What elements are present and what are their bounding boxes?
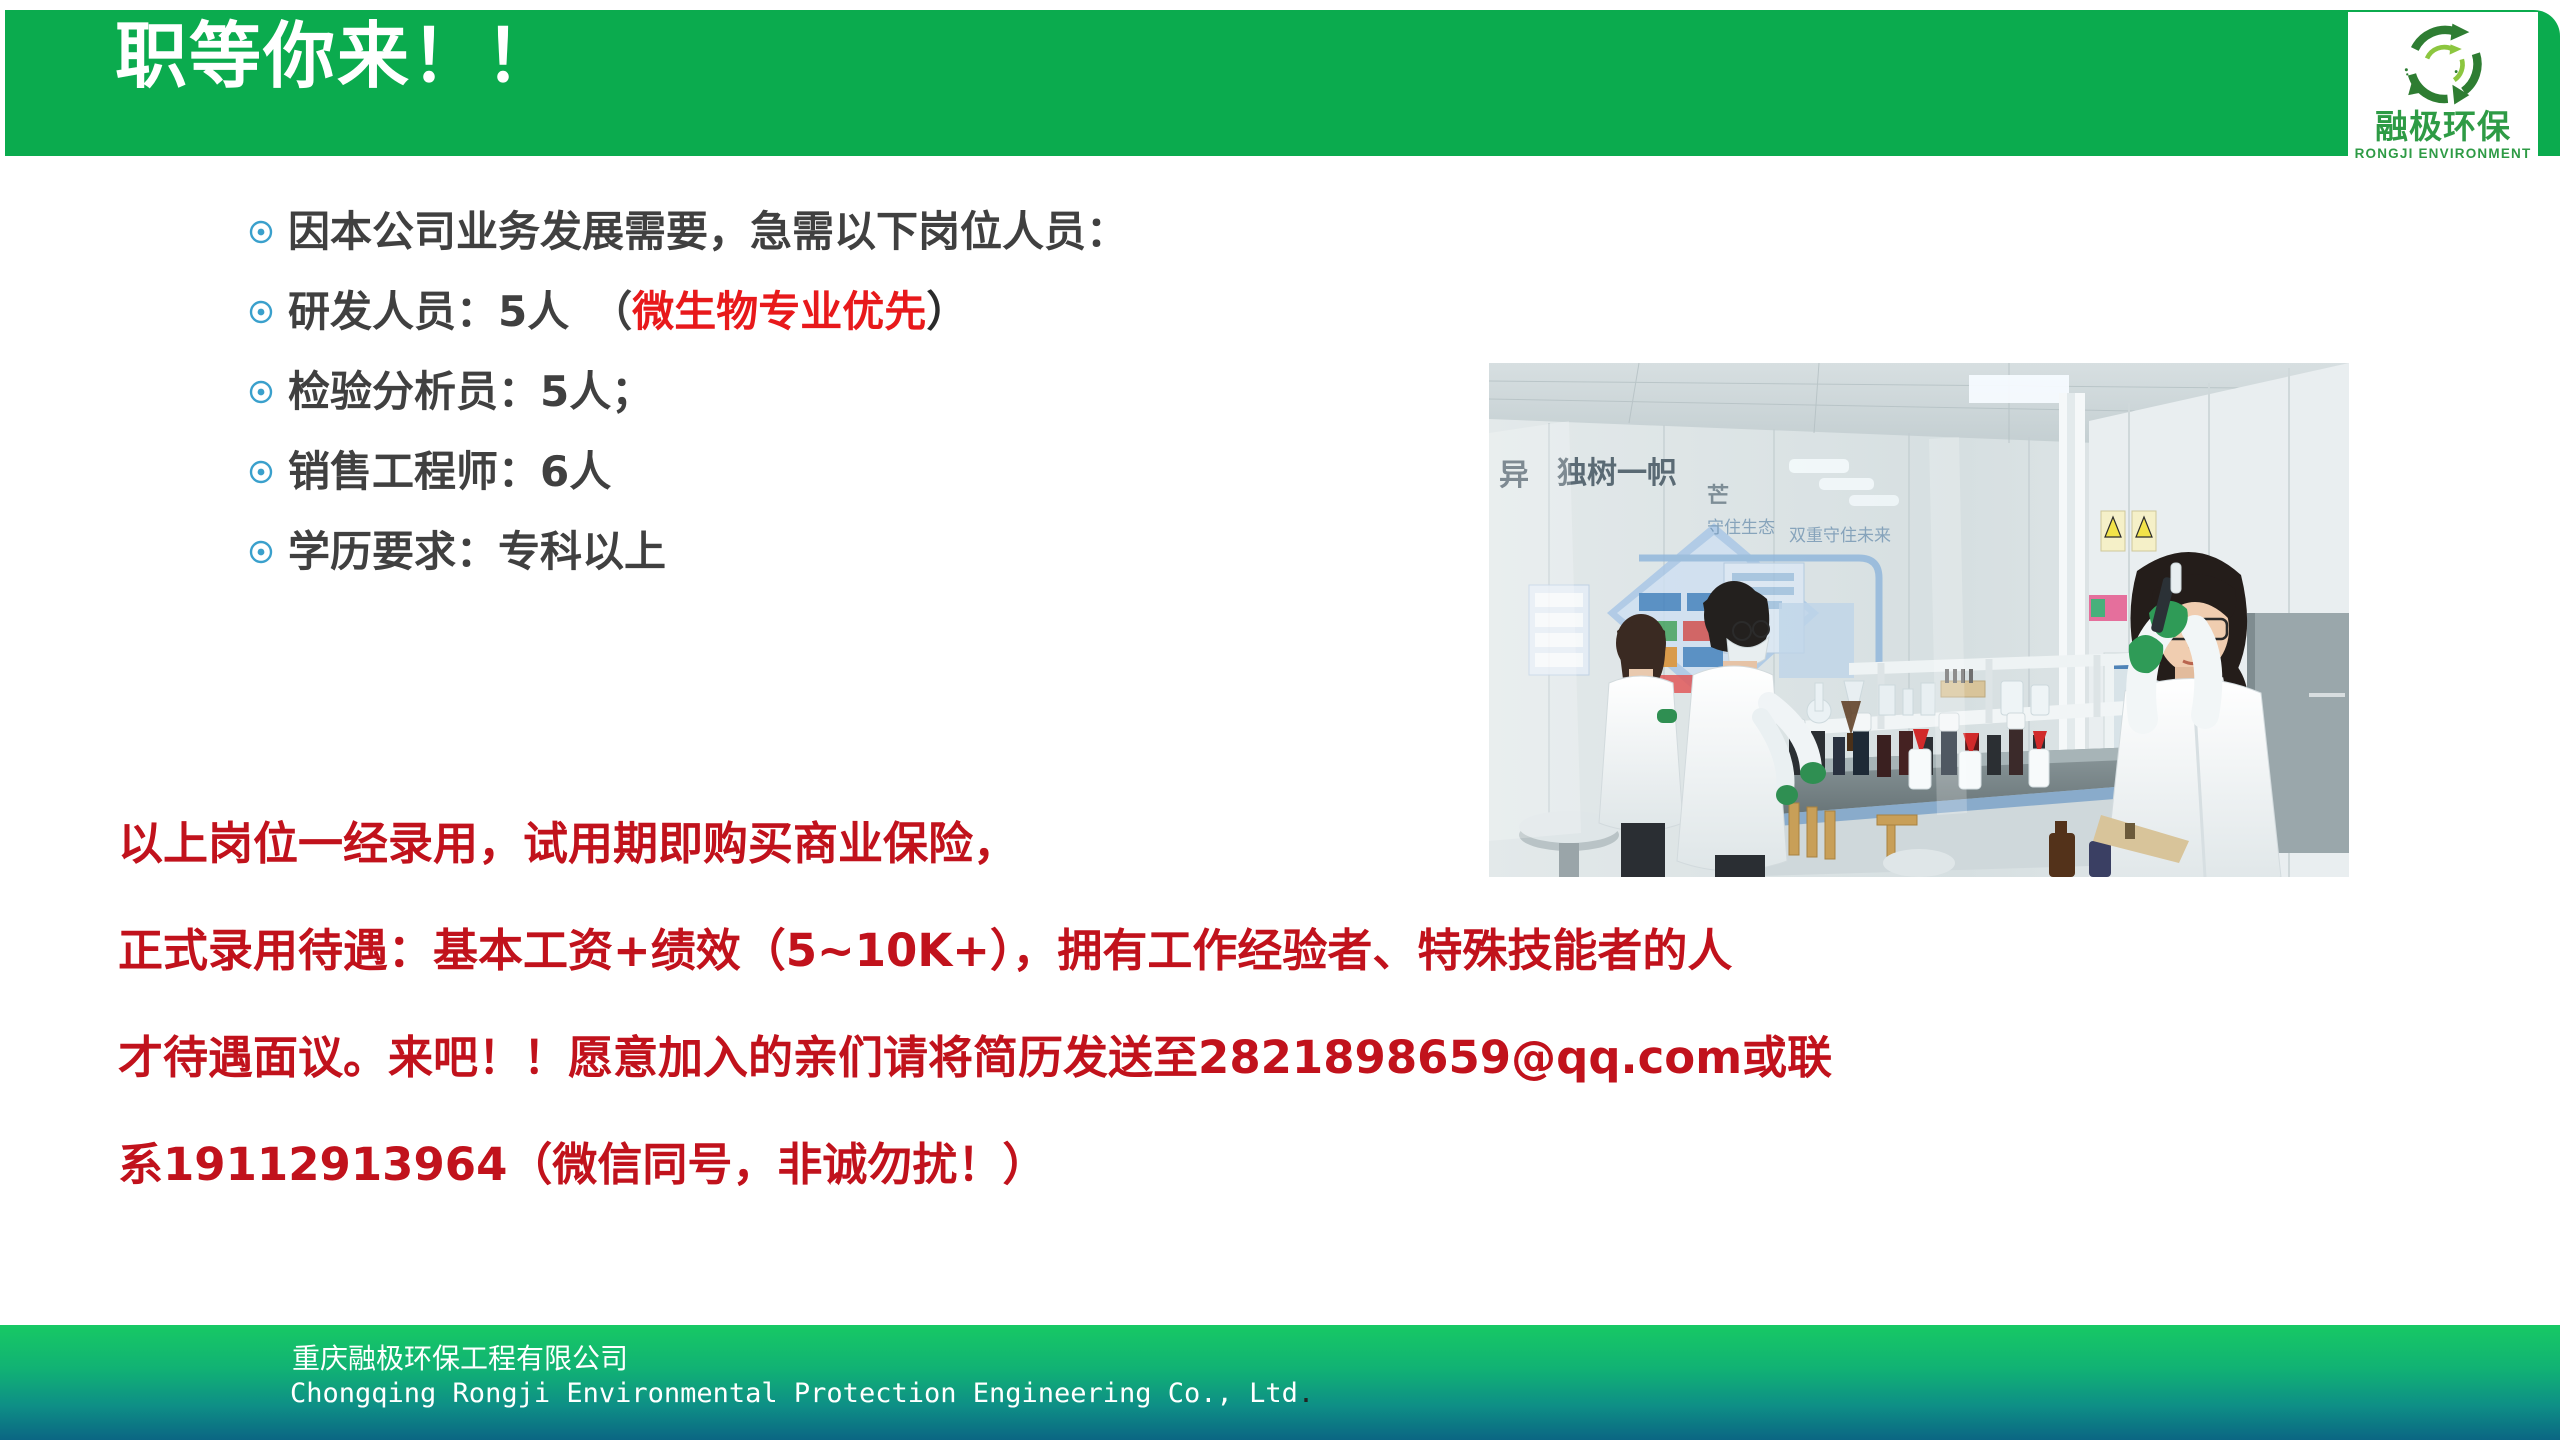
svg-text:守住生态: 守住生态 (1707, 518, 1775, 538)
notice-line: 正式录用待遇：基本工资+绩效（5~10K+），拥有工作经验者、特殊技能者的人 (118, 897, 2508, 1004)
list-item-label: 学历要求：专科以上 (288, 531, 666, 573)
job-requirements-list: 因本公司业务发展需要，急需以下岗位人员： 研发人员：5人 （微生物专业优先） 检… (248, 196, 1548, 596)
list-item-tail: ） (926, 287, 968, 336)
list-item: 销售工程师：6人 (248, 436, 1548, 508)
list-item-label: 销售工程师：6人 (288, 451, 611, 493)
recruitment-notice: 以上岗位一经录用，试用期即购买商业保险， 正式录用待遇：基本工资+绩效（5~10… (118, 790, 2508, 1218)
list-item: 检验分析员：5人； (248, 356, 1548, 428)
footer-company-name-en: Chongqing Rongji Environmental Protectio… (290, 1378, 1314, 1409)
recycle-circle-icon (2396, 18, 2490, 112)
logo-name-en: RONGJI ENVIRONMENT (2355, 147, 2532, 161)
notice-line: 系19112913964（微信同号，非诚勿扰！） (118, 1111, 2508, 1218)
list-item: 学历要求：专科以上 (248, 516, 1548, 588)
svg-text:独树一帜: 独树一帜 (1557, 456, 1677, 491)
list-item: 因本公司业务发展需要，急需以下岗位人员： (248, 196, 1548, 268)
list-item-label: 因本公司业务发展需要，急需以下岗位人员： (288, 211, 1128, 253)
svg-text:双重守住未来: 双重守住未来 (1789, 526, 1891, 546)
footer-period: . (1298, 1378, 1314, 1409)
circle-dot-bullet-icon (248, 379, 288, 405)
circle-dot-bullet-icon (248, 459, 288, 485)
list-item-highlight: 微生物专业优先 (632, 287, 926, 336)
circle-dot-bullet-icon (248, 539, 288, 565)
notice-line: 才待遇面议。来吧！！愿意加入的亲们请将简历发送至2821898659@qq.co… (118, 1004, 2508, 1111)
page-title: 职等你来！！ (115, 20, 559, 92)
list-item-label: 检验分析员：5人； (288, 371, 653, 413)
logo-name-cn: 融极环保 (2375, 110, 2511, 145)
circle-dot-bullet-icon (248, 299, 288, 325)
footer-company-name-cn: 重庆融极环保工程有限公司 (292, 1337, 628, 1377)
list-item: 研发人员：5人 （微生物专业优先） (248, 276, 1548, 348)
notice-line: 以上岗位一经录用，试用期即购买商业保险， (118, 790, 2508, 897)
company-logo: 融极环保 RONGJI ENVIRONMENT (2348, 12, 2538, 190)
circle-dot-bullet-icon (248, 219, 288, 245)
list-item-label: 研发人员：5人 （微生物专业优先） (288, 291, 968, 333)
svg-text:芒: 芒 (1707, 483, 1729, 509)
